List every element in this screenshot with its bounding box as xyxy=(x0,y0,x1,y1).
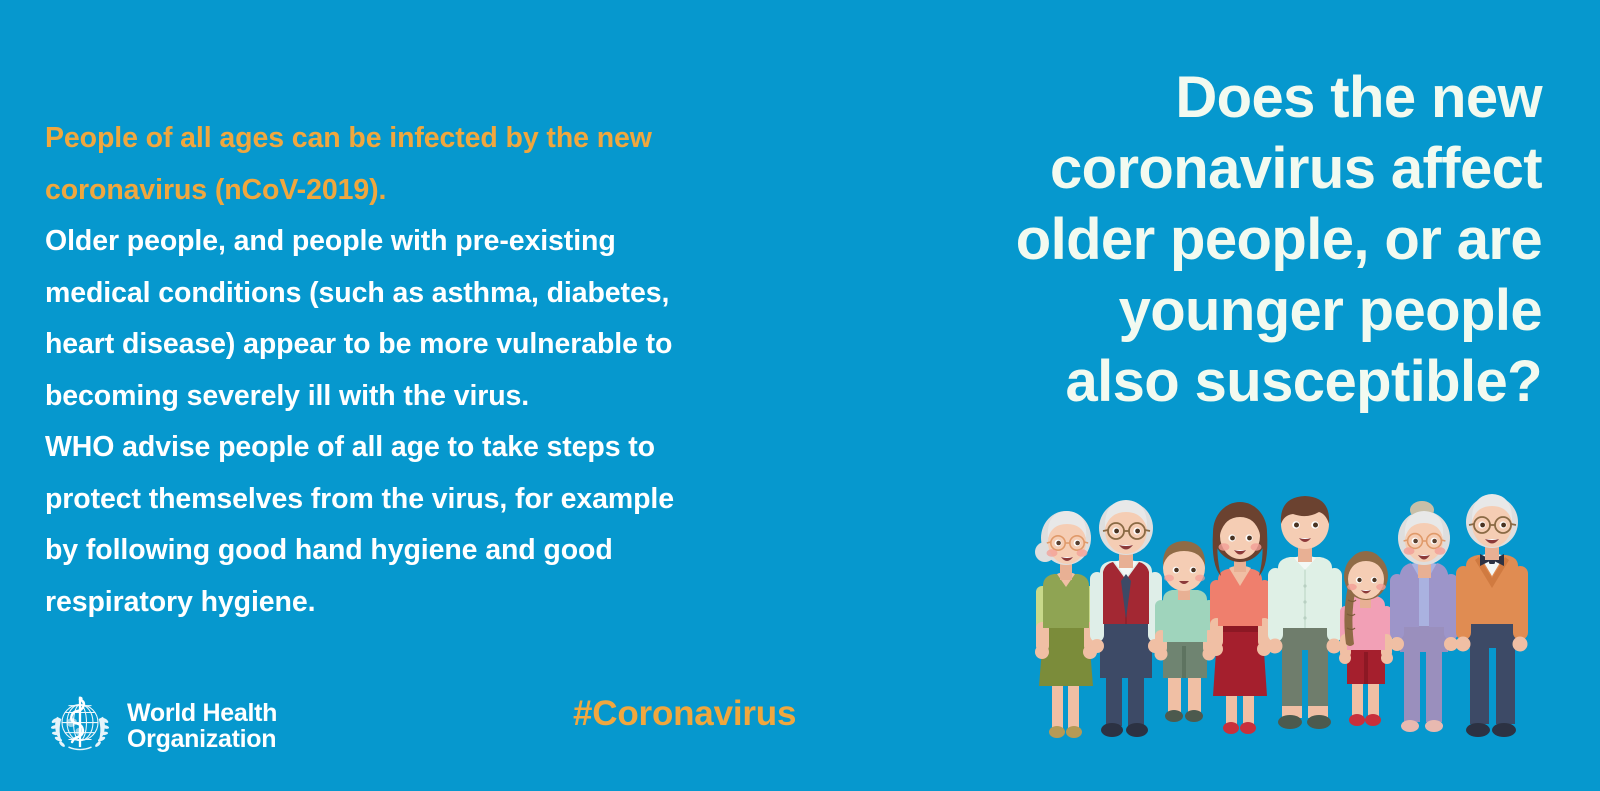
headline-line: also susceptible? xyxy=(822,346,1542,417)
figure-elderly-woman-left xyxy=(1035,511,1097,738)
paragraph-line: medical conditions (such as asthma, diab… xyxy=(45,268,845,320)
body-copy-block: People of all ages can be infected by th… xyxy=(45,113,845,628)
paragraph-line: WHO advise people of all age to take ste… xyxy=(45,422,845,474)
figure-adult-woman xyxy=(1209,502,1271,734)
paragraph-line: protect themselves from the virus, for e… xyxy=(45,474,845,526)
paragraph-line: respiratory hygiene. xyxy=(45,577,845,629)
paragraph-line: Older people, and people with pre-existi… xyxy=(45,216,845,268)
figure-elderly-woman-right xyxy=(1390,501,1458,732)
who-wordmark: World Health Organization xyxy=(127,701,277,752)
figure-elderly-man-vest xyxy=(1090,500,1162,737)
headline-line: younger people xyxy=(822,275,1542,346)
headline: Does the new coronavirus affect older pe… xyxy=(822,62,1542,417)
who-logo: World Health Organization xyxy=(44,688,277,765)
family-group-illustration xyxy=(1030,494,1530,749)
headline-line: Does the new xyxy=(822,62,1542,133)
figure-elderly-man-bowtie xyxy=(1456,494,1529,737)
headline-line: coronavirus affect xyxy=(822,133,1542,204)
paragraph-accent-line: coronavirus (nCoV-2019). xyxy=(45,165,845,217)
figure-boy-child xyxy=(1155,541,1216,722)
paragraph-line: heart disease) appear to be more vulnera… xyxy=(45,319,845,371)
headline-line: older people, or are xyxy=(822,204,1542,275)
hashtag-coronavirus: #Coronavirus xyxy=(573,694,796,734)
poster-canvas: People of all ages can be infected by th… xyxy=(0,0,1600,791)
who-wordmark-line1: World Health xyxy=(127,701,277,727)
paragraph-line: becoming severely ill with the virus. xyxy=(45,371,845,423)
figure-adult-man xyxy=(1268,496,1343,729)
paragraph-line: by following good hand hygiene and good xyxy=(45,525,845,577)
paragraph-accent-line: People of all ages can be infected by th… xyxy=(45,113,845,165)
who-emblem-icon xyxy=(44,688,116,765)
figure-girl-child xyxy=(1339,551,1393,726)
who-wordmark-line2: Organization xyxy=(127,727,277,753)
